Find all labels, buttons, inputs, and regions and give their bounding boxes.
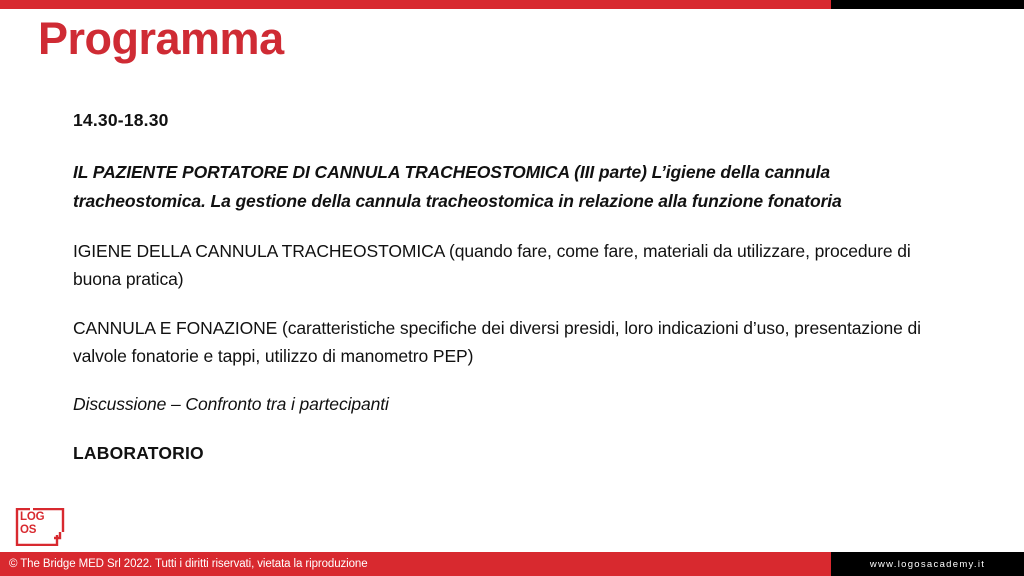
topic-phonation: CANNULA E FONAZIONE (caratteristiche spe… bbox=[73, 314, 953, 371]
footer-website-segment: www.logosacademy.it bbox=[831, 552, 1024, 576]
page-title: Programma bbox=[38, 13, 284, 65]
logo-wordmark: LOG OS bbox=[20, 511, 44, 537]
session-heading: IL PAZIENTE PORTATORE DI CANNULA TRACHEO… bbox=[73, 158, 953, 215]
topic-laboratory: LABORATORIO bbox=[73, 439, 953, 467]
program-content: 14.30-18.30 IL PAZIENTE PORTATORE DI CAN… bbox=[73, 106, 953, 467]
top-accent-black-segment bbox=[831, 0, 1024, 9]
footer-copyright-segment: © The Bridge MED Srl 2022. Tutti i dirit… bbox=[0, 552, 831, 576]
time-range: 14.30-18.30 bbox=[73, 106, 953, 134]
slide-programma: Programma 14.30-18.30 IL PAZIENTE PORTAT… bbox=[0, 0, 1024, 576]
footer-website-text[interactable]: www.logosacademy.it bbox=[870, 559, 985, 570]
footer-bar: © The Bridge MED Srl 2022. Tutti i dirit… bbox=[0, 552, 1024, 576]
logo-line-1: LOG bbox=[20, 511, 44, 524]
topic-discussion: Discussione – Confronto tra i partecipan… bbox=[73, 390, 953, 418]
top-accent-red-segment bbox=[0, 0, 831, 9]
logo-line-2: OS bbox=[20, 524, 44, 537]
top-accent-bar bbox=[0, 0, 1024, 9]
footer-copyright-text: © The Bridge MED Srl 2022. Tutti i dirit… bbox=[0, 558, 368, 570]
logos-logo: LOG OS bbox=[14, 508, 66, 546]
topic-hygiene: IGIENE DELLA CANNULA TRACHEOSTOMICA (qua… bbox=[73, 237, 953, 294]
